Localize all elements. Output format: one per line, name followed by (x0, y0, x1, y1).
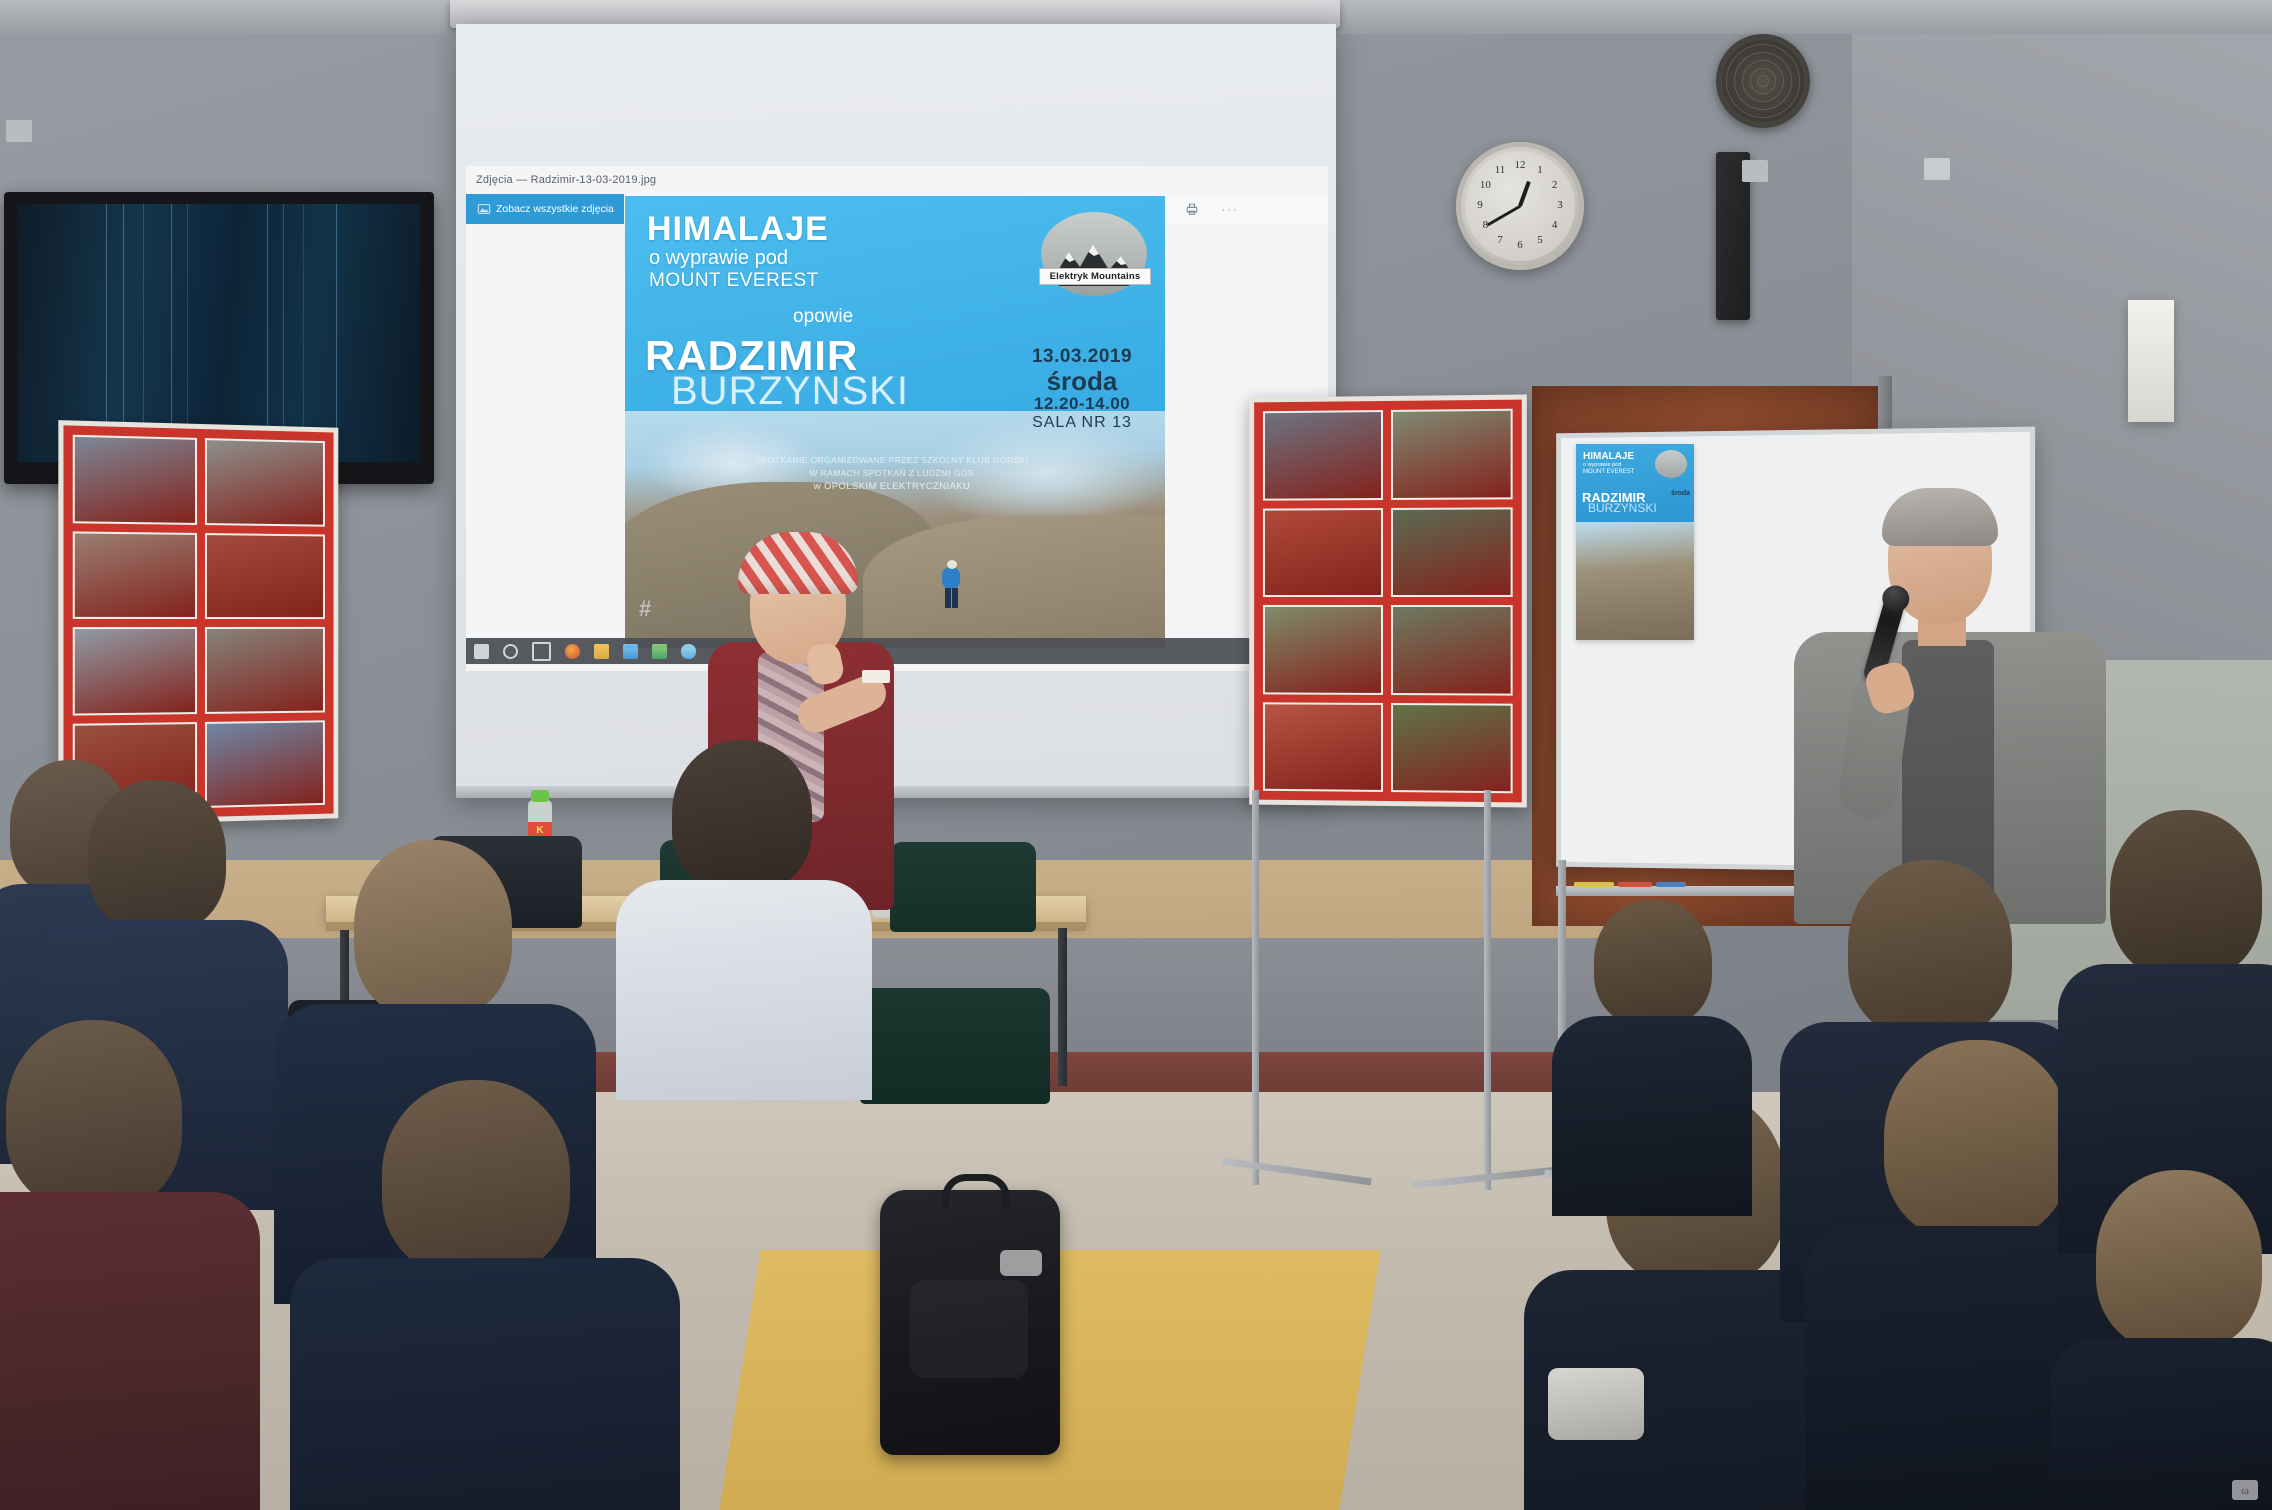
browser-icon[interactable] (565, 644, 580, 659)
clock-numeral: 2 (1548, 179, 1562, 191)
board-photo (1263, 410, 1383, 500)
poster-intro-word: opowie (793, 306, 853, 328)
ceiling-speaker-icon (1716, 34, 1810, 128)
board-photo (73, 531, 197, 619)
bottle-cap (531, 790, 549, 802)
board-photo (1391, 605, 1513, 695)
board-photo (205, 627, 325, 714)
board-photo (73, 627, 197, 715)
poster-fine-print-1: SPOTKANIE ORGANIZOWANE PRZEZ SZKOLNY KLU… (625, 454, 1159, 467)
table-leg (1058, 928, 1067, 1086)
chair[interactable] (890, 842, 1036, 960)
overflow-menu-button[interactable]: ··· (1209, 202, 1251, 216)
see-all-photos-label: Zobacz wszystkie zdjęcia (496, 203, 614, 215)
audience-member (0, 1020, 230, 1510)
clock-numeral: 12 (1513, 159, 1527, 171)
poster-presenter-last-name: BURZYNSKI (671, 372, 909, 410)
clock-numeral: 4 (1548, 219, 1562, 231)
clock-numeral: 3 (1553, 199, 1567, 211)
poster-hashtag: # (639, 596, 652, 622)
poster-date: 13.03.2019 (1011, 346, 1153, 368)
board-photo (1391, 409, 1513, 500)
wall-clock: 121234567891011 (1456, 142, 1584, 270)
board-photo (1263, 605, 1383, 695)
search-icon[interactable] (503, 644, 518, 659)
see-all-photos-button[interactable]: Zobacz wszystkie zdjęcia (466, 194, 624, 224)
clock-hour-hand (1518, 181, 1531, 207)
poster-climber-figure (938, 567, 964, 613)
audience-member (2070, 810, 2272, 1210)
host-with-microphone (1790, 464, 2110, 924)
clock-numeral: 10 (1478, 179, 1492, 191)
backpack-strap (1000, 1250, 1042, 1276)
elektryk-mountains-logo: Elektryk Mountains (1041, 212, 1147, 304)
wall-poster-presenter-last: BURZYNSKI (1588, 501, 1657, 515)
cloud-icon[interactable] (681, 644, 696, 659)
poster-time: 12.20-14.00 (1011, 394, 1153, 414)
clock-numeral: 9 (1473, 199, 1487, 211)
app-titlebar: Zdjęcia — Radzimir-13-03-2019.jpg (466, 166, 1328, 194)
backpack-handle (942, 1174, 1010, 1209)
clock-numeral: 1 (1533, 164, 1547, 176)
audience-member (290, 1080, 670, 1510)
board-photo (205, 533, 325, 620)
board-photo (1391, 507, 1513, 597)
photo-board-stand (1222, 790, 1552, 1210)
poster-subtitle-1: o wyprawie pod (649, 248, 788, 269)
photo-board-middle (1249, 394, 1527, 807)
mail-icon[interactable] (652, 644, 667, 659)
watermark: ω (2232, 1480, 2258, 1500)
jacket-badge (862, 670, 890, 683)
poster-weekday: środa (1011, 368, 1153, 394)
clock-face: 121234567891011 (1465, 151, 1575, 261)
audience-member (2060, 1170, 2272, 1510)
wall-poster-logo-icon (1655, 450, 1687, 478)
wall-poster-sub2: MOUNT EVEREST (1583, 469, 1635, 475)
poster-fine-print-2: W RAMACH SPOTKAŃ Z LUDŹMI GÓR (625, 467, 1159, 480)
windows-taskbar[interactable] (466, 638, 1336, 664)
board-photo (205, 438, 325, 526)
poster-title: HIMALAJE (647, 212, 829, 246)
clock-numeral: 5 (1533, 234, 1547, 246)
wall-socket[interactable] (6, 120, 32, 142)
clock-numeral: 11 (1493, 164, 1507, 176)
board-photo (1391, 703, 1513, 794)
file-explorer-icon[interactable] (594, 644, 609, 659)
poster-room: SALA NR 13 (1011, 414, 1153, 432)
task-view-icon[interactable] (532, 642, 551, 661)
clock-numeral: 7 (1493, 234, 1507, 246)
board-photo (73, 435, 197, 525)
wall-socket-right[interactable] (1924, 158, 1950, 180)
host-hair (1882, 488, 1998, 546)
poster-fine-print: SPOTKANIE ORGANIZOWANE PRZEZ SZKOLNY KLU… (625, 454, 1159, 494)
wall-poster-weekday: środa (1671, 490, 1690, 498)
audience-member (630, 740, 850, 1080)
start-button-icon[interactable] (474, 644, 489, 659)
wall-poster-title: HIMALAJE (1583, 451, 1634, 462)
wall-poster-sub1: o wyprawie pod (1583, 462, 1621, 468)
photo-board-middle-grid (1254, 400, 1522, 803)
printer-icon (1184, 202, 1199, 217)
store-icon[interactable] (623, 644, 638, 659)
shoe (1548, 1368, 1644, 1440)
clock-minute-hand (1486, 205, 1520, 227)
wall-socket-secondary[interactable] (1742, 160, 1768, 182)
board-photo (1263, 702, 1383, 792)
window-title: Zdjęcia — Radzimir-13-03-2019.jpg (476, 174, 656, 186)
classroom-presentation-scene: 121234567891011 HIMALAJE o wyprawie pod … (0, 0, 2272, 1510)
logo-label: Elektryk Mountains (1039, 268, 1151, 285)
board-photo (1263, 508, 1383, 598)
print-button[interactable] (1174, 194, 1209, 224)
nepali-topi-hat (738, 532, 858, 594)
backpack-pocket (910, 1280, 1028, 1378)
photo-stack-icon (476, 202, 491, 217)
poster-subtitle-2: MOUNT EVEREST (649, 270, 819, 292)
wall-poster-printout: HIMALAJE o wyprawie pod MOUNT EVEREST RA… (1576, 444, 1694, 640)
wall-light-fixture (2128, 300, 2174, 422)
audience-member (1560, 900, 1740, 1200)
chair[interactable] (860, 988, 1050, 1188)
clock-numeral: 6 (1513, 239, 1527, 251)
backpack (880, 1190, 1060, 1455)
poster-event-details: 13.03.2019 środa 12.20-14.00 SALA NR 13 (1011, 346, 1153, 432)
